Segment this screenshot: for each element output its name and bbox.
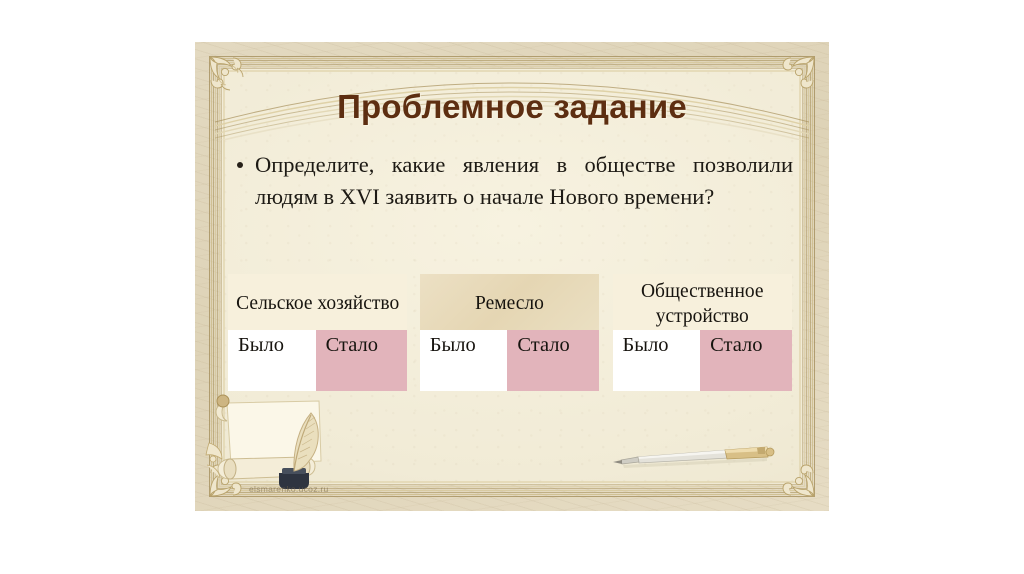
table-spacer xyxy=(407,330,419,391)
bullet-text: Определите, какие явления в обществе поз… xyxy=(255,149,793,213)
corner-ornament-icon xyxy=(771,453,817,499)
cell-after-agriculture[interactable]: Стало xyxy=(316,330,408,391)
table-spacer xyxy=(599,330,612,391)
screenshot-canvas: Проблемное задание Определите, какие явл… xyxy=(0,0,1024,574)
table-row-subheaders: Было Стало Было Стало Было Стало xyxy=(228,330,792,391)
bullet-dot-icon xyxy=(237,162,243,168)
presentation-slide: Проблемное задание Определите, какие явл… xyxy=(195,42,829,511)
corner-ornament-icon xyxy=(207,453,253,499)
cell-after-craft[interactable]: Стало xyxy=(507,330,599,391)
cell-before-social-order[interactable]: Было xyxy=(613,330,701,391)
list-item: Определите, какие явления в обществе поз… xyxy=(237,149,793,213)
group-header-social-order: Общественное устройство xyxy=(613,274,792,330)
bullet-list: Определите, какие явления в обществе поз… xyxy=(237,149,793,213)
cell-before-agriculture[interactable]: Было xyxy=(228,330,316,391)
cell-before-craft[interactable]: Было xyxy=(420,330,508,391)
watermark: elsmarenko.ucoz.ru xyxy=(249,484,329,494)
table-row-group-headers: Сельское хозяйство Ремесло Общественное … xyxy=(228,274,792,330)
page-title: Проблемное задание xyxy=(195,88,829,126)
comparison-table: Сельское хозяйство Ремесло Общественное … xyxy=(228,274,792,391)
group-header-craft: Ремесло xyxy=(420,274,599,330)
table-spacer xyxy=(599,274,612,330)
cell-after-social-order[interactable]: Стало xyxy=(700,330,792,391)
table-spacer xyxy=(407,274,419,330)
group-header-agriculture: Сельское хозяйство xyxy=(228,274,407,330)
